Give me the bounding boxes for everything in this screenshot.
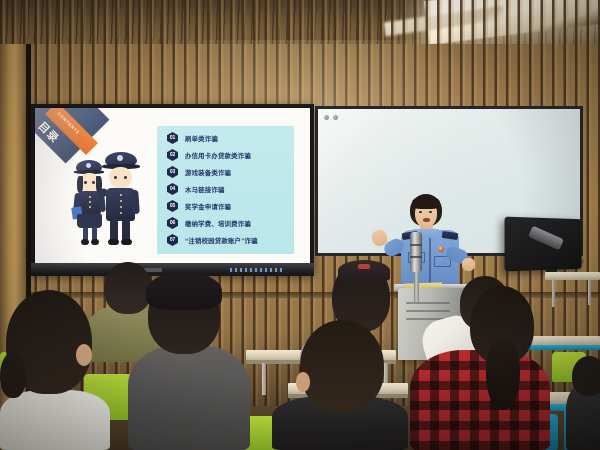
audience-cap-accent [358, 264, 370, 269]
item-badge-03: 03 [167, 166, 178, 178]
item-label-01: 刷单类诈骗 [185, 134, 218, 143]
list-item: 06 缴纳学费、培训费诈骗 [167, 217, 251, 229]
audience-body-plaid [410, 350, 550, 450]
item-badge-06: 06 [167, 217, 178, 229]
item-label-07: “注销校园贷款账户”诈骗 [185, 236, 258, 245]
male-police-mascot [99, 152, 145, 250]
item-badge-02: 02 [167, 149, 178, 161]
audience-body [0, 390, 110, 450]
audience-head [0, 352, 26, 398]
desk-leg [588, 279, 591, 305]
audience-ponytail [486, 340, 520, 410]
audience-head [572, 356, 600, 396]
item-badge-07: 07 [167, 234, 178, 246]
speaker-hand-right [462, 258, 475, 271]
item-label-05: 奖学金申请诈骗 [185, 202, 231, 211]
slide-content-panel: 01 刷单类诈骗 02 办信用卡办贷款类诈骗 03 游戏装备类诈骗 04 木马链… [157, 126, 294, 254]
speaker-shirt-placket [429, 238, 431, 288]
speaker-mouth [423, 218, 430, 222]
item-label-06: 缴纳学费、培训费诈骗 [185, 219, 251, 228]
display-control-panel[interactable] [230, 268, 282, 272]
whiteboard-mount-bolt [333, 115, 338, 120]
led-display-screen[interactable]: 目录 CONTENTS [35, 108, 310, 264]
audience-ear [76, 344, 92, 366]
audience-head [104, 262, 152, 314]
speaker-eye-right [429, 211, 432, 213]
police-mascot-group [65, 146, 151, 251]
desk-leg [262, 363, 266, 395]
whiteboard-mount-bolt [324, 115, 329, 120]
item-label-02: 办信用卡办贷款类诈骗 [185, 151, 251, 160]
list-item: 01 刷单类诈骗 [167, 132, 218, 144]
audience-cap [146, 272, 222, 310]
item-label-04: 木马链接诈骗 [185, 185, 225, 194]
audience-head [300, 320, 384, 412]
lecture-room-photo: 目录 CONTENTS [0, 0, 600, 450]
list-item: 05 奖学金申请诈骗 [167, 200, 231, 212]
speaker-eye-left [419, 211, 422, 213]
speaker-hair-front [412, 196, 440, 209]
item-badge-01: 01 [167, 132, 178, 144]
desk-leg [552, 279, 555, 307]
microphone[interactable] [410, 232, 422, 272]
audience-ear [296, 372, 310, 392]
microphone-band [410, 244, 422, 246]
item-badge-04: 04 [167, 183, 178, 195]
audience-body [128, 346, 250, 450]
microphone-band [410, 256, 422, 258]
item-badge-05: 05 [167, 200, 178, 212]
monitor-rear-panel[interactable] [505, 217, 582, 272]
speaker-chest-badge [438, 246, 444, 252]
list-item: 07 “注销校园贷款账户”诈骗 [167, 234, 258, 246]
list-item: 04 木马链接诈骗 [167, 183, 225, 195]
list-item: 02 办信用卡办贷款类诈骗 [167, 149, 251, 161]
item-label-03: 游戏装备类诈骗 [185, 168, 231, 177]
microphone-stand [414, 268, 419, 302]
list-item: 03 游戏装备类诈骗 [167, 166, 231, 178]
